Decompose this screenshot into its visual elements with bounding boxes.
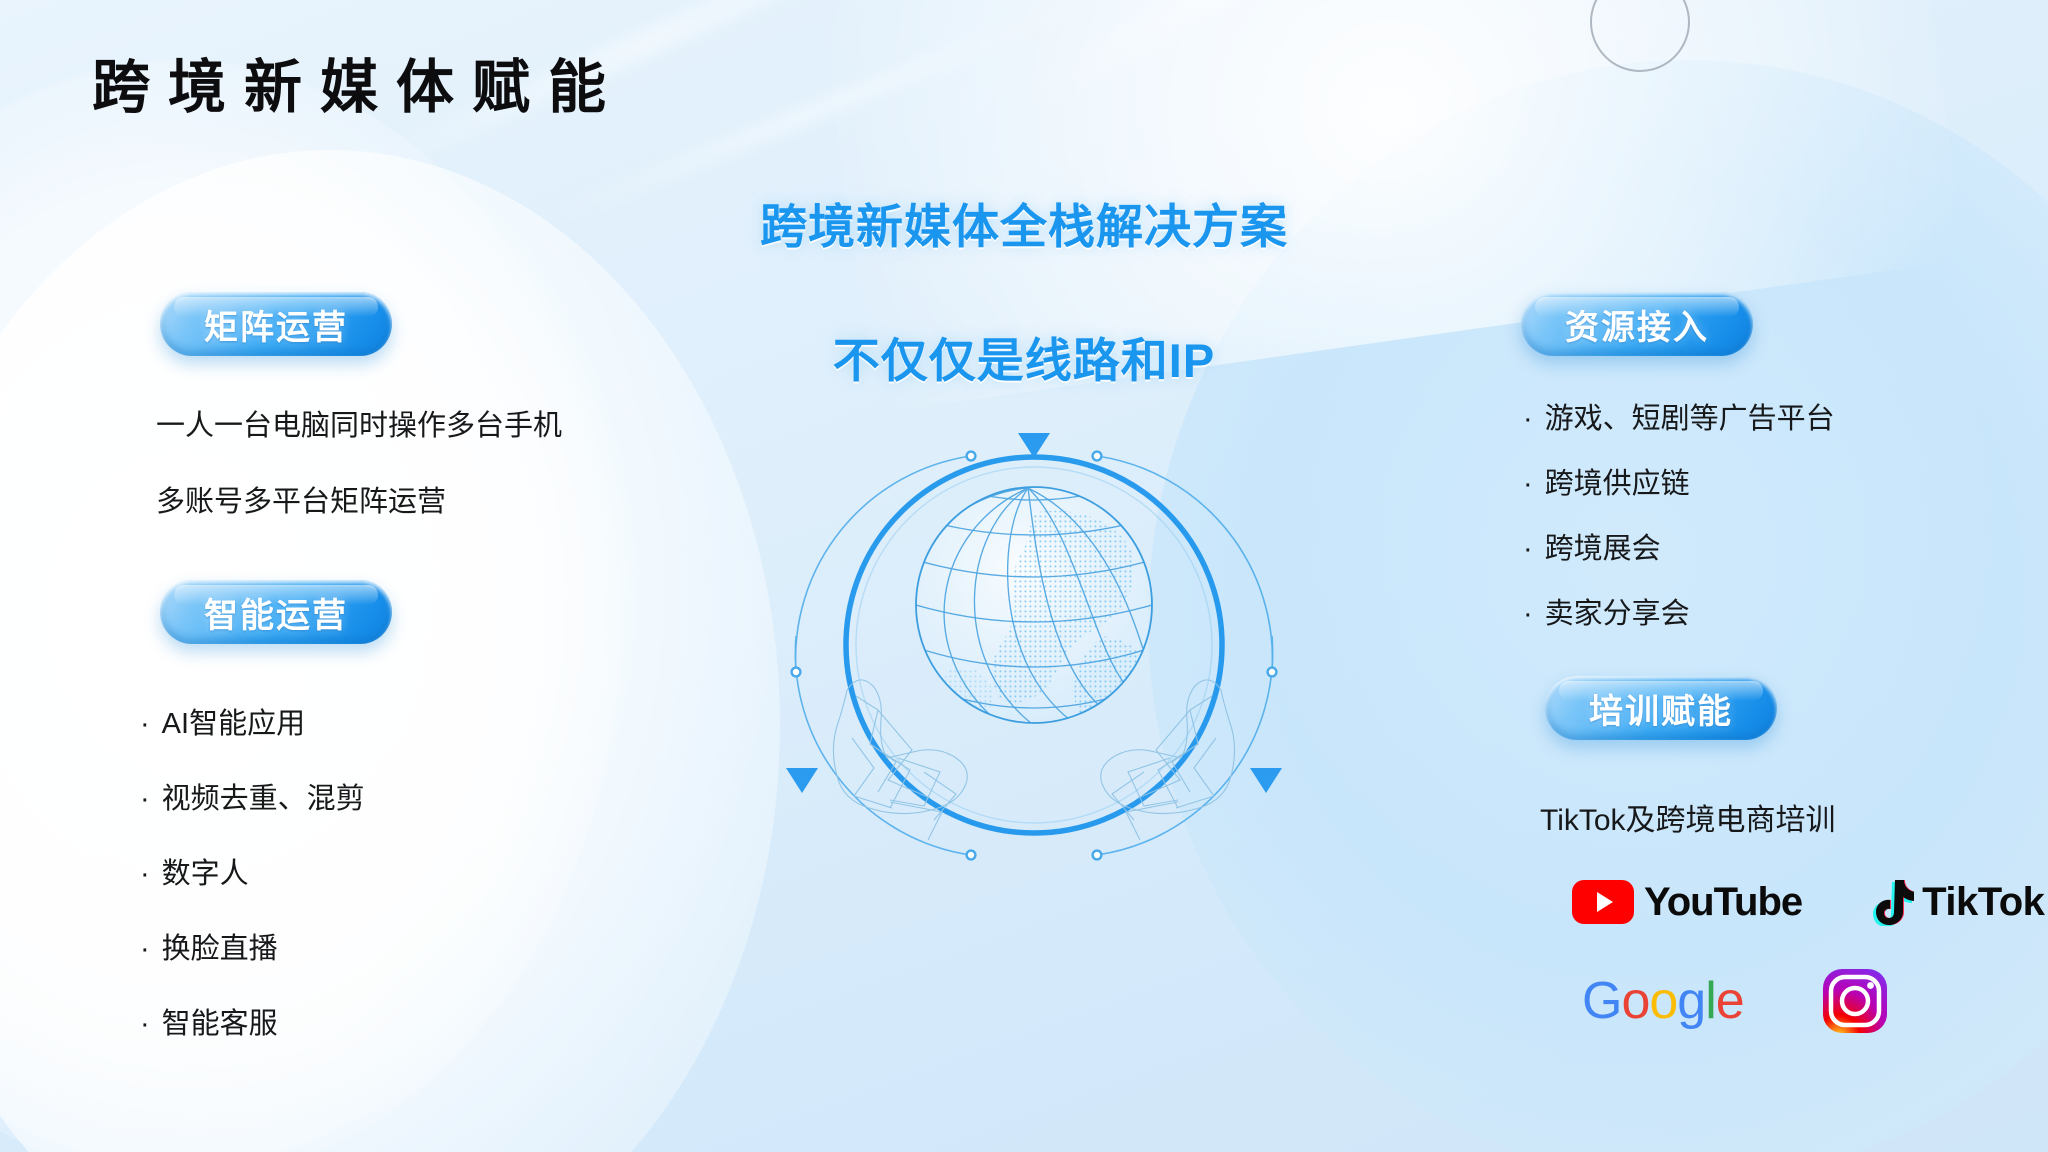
- pill-smart-operation[interactable]: 智能运营: [160, 580, 392, 644]
- center-heading-secondary: 不仅仅是线路和IP: [833, 322, 1215, 391]
- list-item: ·卖家分享会: [1523, 590, 1690, 632]
- tiktok-wordmark: TikTok: [1922, 880, 2044, 925]
- list-item-label: 数字人: [162, 858, 249, 890]
- background-light-streak: [1006, 0, 1473, 122]
- bullet-icon: ·: [140, 933, 150, 965]
- pill-training-empowerment[interactable]: 培训赋能: [1545, 676, 1777, 740]
- page-title: 跨境新媒体赋能: [92, 40, 624, 124]
- list-item-label: 卖家分享会: [1545, 598, 1690, 630]
- google-letter-g2: g: [1677, 971, 1705, 1031]
- google-letter-o1: o: [1621, 971, 1649, 1031]
- pill-resource-access[interactable]: 资源接入: [1521, 292, 1753, 356]
- list-item: ·跨境供应链: [1523, 460, 1690, 502]
- pill-matrix-operation[interactable]: 矩阵运营: [160, 292, 392, 356]
- google-letter-l: l: [1705, 971, 1716, 1031]
- youtube-logo[interactable]: YouTube: [1572, 880, 1802, 925]
- google-letter-o2: o: [1649, 971, 1677, 1031]
- background-blob-left: [0, 150, 780, 1152]
- list-item-label: 智能客服: [162, 1008, 278, 1040]
- list-item: ·数字人: [140, 850, 249, 892]
- list-item-label: 换脸直播: [162, 933, 278, 965]
- google-letter-g1: G: [1582, 971, 1621, 1031]
- bullet-icon: ·: [140, 783, 150, 815]
- bullet-icon: ·: [1523, 598, 1533, 630]
- list-item: ·跨境展会: [1523, 525, 1661, 567]
- left-text-line: 一人一台电脑同时操作多台手机: [156, 402, 562, 444]
- bullet-icon: ·: [1523, 403, 1533, 435]
- youtube-wordmark: YouTube: [1644, 880, 1802, 925]
- instagram-logo[interactable]: [1822, 968, 1888, 1034]
- list-item: ·视频去重、混剪: [140, 775, 365, 817]
- google-letter-e: e: [1716, 971, 1744, 1031]
- tiktok-note-icon: [1868, 878, 1914, 926]
- bullet-icon: ·: [140, 1008, 150, 1040]
- youtube-play-icon: [1572, 880, 1634, 924]
- slide-canvas: 跨境新媒体赋能 跨境新媒体全栈解决方案 不仅仅是线路和IP: [0, 0, 2048, 1152]
- bullet-icon: ·: [140, 858, 150, 890]
- list-item: ·AI智能应用: [140, 700, 305, 742]
- logo-row-secondary: Google: [1582, 968, 1888, 1034]
- logo-row-primary: YouTube TikTok: [1572, 878, 2044, 926]
- list-item: ·换脸直播: [140, 925, 278, 967]
- list-item-label: 跨境展会: [1545, 533, 1661, 565]
- list-item: ·游戏、短剧等广告平台: [1523, 395, 1835, 437]
- list-item-label: 视频去重、混剪: [162, 783, 365, 815]
- bullet-icon: ·: [1523, 533, 1533, 565]
- training-description: TikTok及跨境电商培训: [1540, 795, 1836, 839]
- globe-in-hands-illustration: [784, 400, 1284, 880]
- left-text-line: 多账号多平台矩阵运营: [156, 478, 446, 520]
- list-item-label: 游戏、短剧等广告平台: [1545, 403, 1835, 435]
- list-item-label: AI智能应用: [162, 708, 305, 740]
- google-logo[interactable]: Google: [1582, 971, 1744, 1031]
- decorative-circle-outline: [1590, 0, 1690, 72]
- center-heading-primary: 跨境新媒体全栈解决方案: [760, 188, 1288, 257]
- list-item-label: 跨境供应链: [1545, 468, 1690, 500]
- list-item: ·智能客服: [140, 1000, 278, 1042]
- instagram-camera-icon: [1822, 968, 1888, 1034]
- tiktok-logo[interactable]: TikTok: [1868, 878, 2044, 926]
- bullet-icon: ·: [140, 708, 150, 740]
- bullet-icon: ·: [1523, 468, 1533, 500]
